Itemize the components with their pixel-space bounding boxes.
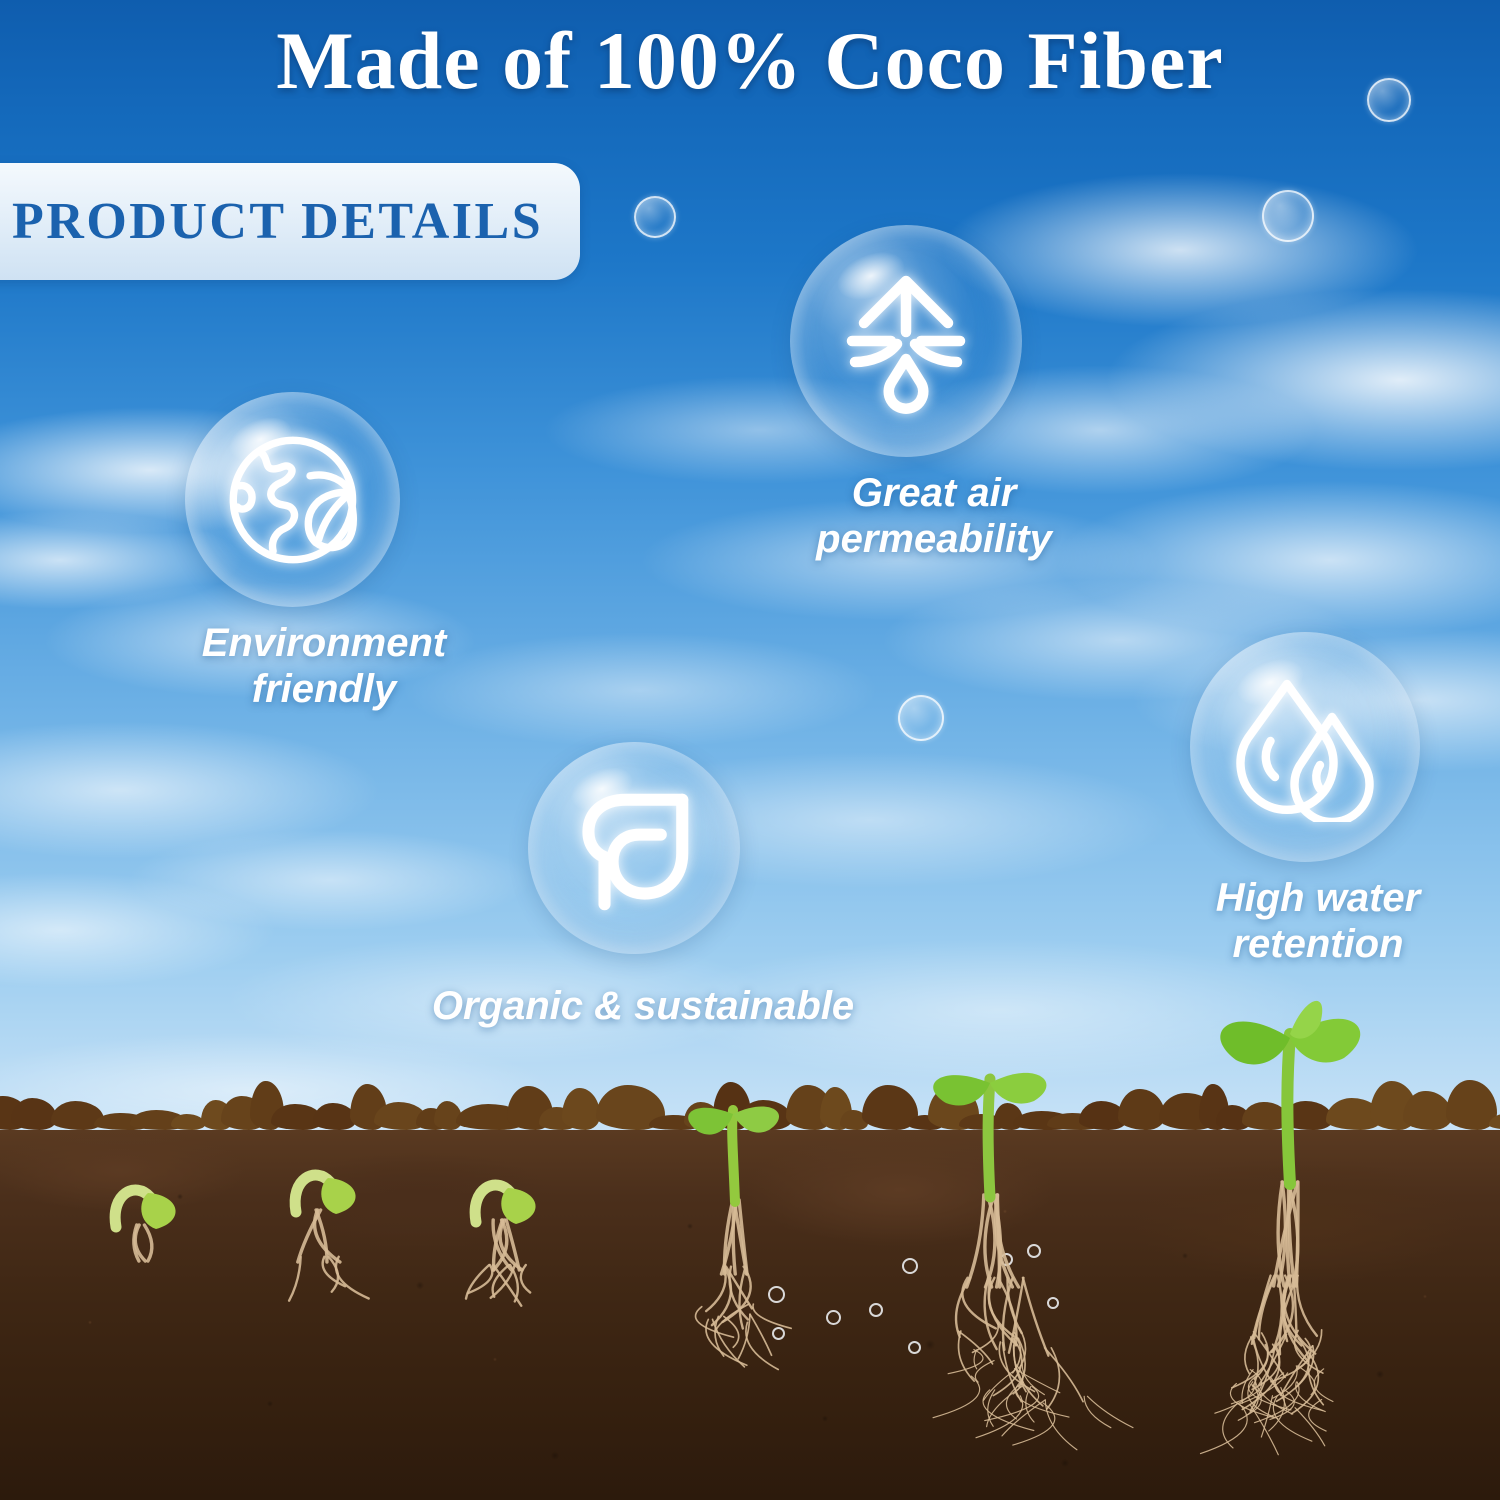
root-strand [1023, 1278, 1048, 1356]
stem [732, 1110, 735, 1202]
root-strand [959, 1331, 975, 1381]
root-strand [933, 1376, 980, 1418]
root-strand [746, 1322, 778, 1369]
sprout-shape [75, 1169, 205, 1229]
roots-svg [0, 0, 1500, 1500]
root-strand [1045, 1400, 1077, 1450]
leaf [141, 1193, 175, 1229]
root-strand [1297, 1276, 1317, 1336]
root-strand [144, 1225, 151, 1261]
sprout-shape [260, 1144, 380, 1214]
root-strand [468, 1265, 492, 1293]
root-strand [753, 1304, 791, 1328]
root-strand [984, 1369, 1017, 1401]
sprout-shape [435, 1154, 565, 1224]
root-strand [967, 1195, 984, 1287]
sprout-shape [660, 1074, 810, 1204]
root-strand [1200, 1403, 1247, 1453]
root-strand [1045, 1348, 1083, 1402]
root-strand [958, 1331, 992, 1364]
leaf [933, 1075, 990, 1105]
leaf [733, 1106, 779, 1132]
leaf [688, 1108, 733, 1135]
root-strand [1296, 1182, 1298, 1286]
root-strand [521, 1265, 530, 1293]
root-strand [1013, 1403, 1055, 1445]
root-strand [289, 1257, 301, 1301]
leaf [990, 1073, 1046, 1104]
root-strand [1298, 1366, 1316, 1395]
leaf [321, 1178, 355, 1214]
stem [1287, 1034, 1290, 1184]
stem [988, 1079, 990, 1197]
sprout-shape [895, 1039, 1085, 1199]
seedling-stage-6 [1175, 986, 1405, 1186]
seedling-stage-5 [895, 1039, 1085, 1199]
seedling-stage-2 [260, 1144, 380, 1214]
seedling-stage-1 [75, 1169, 205, 1229]
leaf [501, 1188, 535, 1224]
leaf [1220, 1021, 1290, 1064]
root-strand [1002, 1400, 1045, 1436]
seedling-stage-3 [435, 1154, 565, 1224]
sprout-shape [1175, 986, 1405, 1186]
root-strand [1087, 1396, 1133, 1427]
seedling-stage-4 [660, 1074, 810, 1204]
